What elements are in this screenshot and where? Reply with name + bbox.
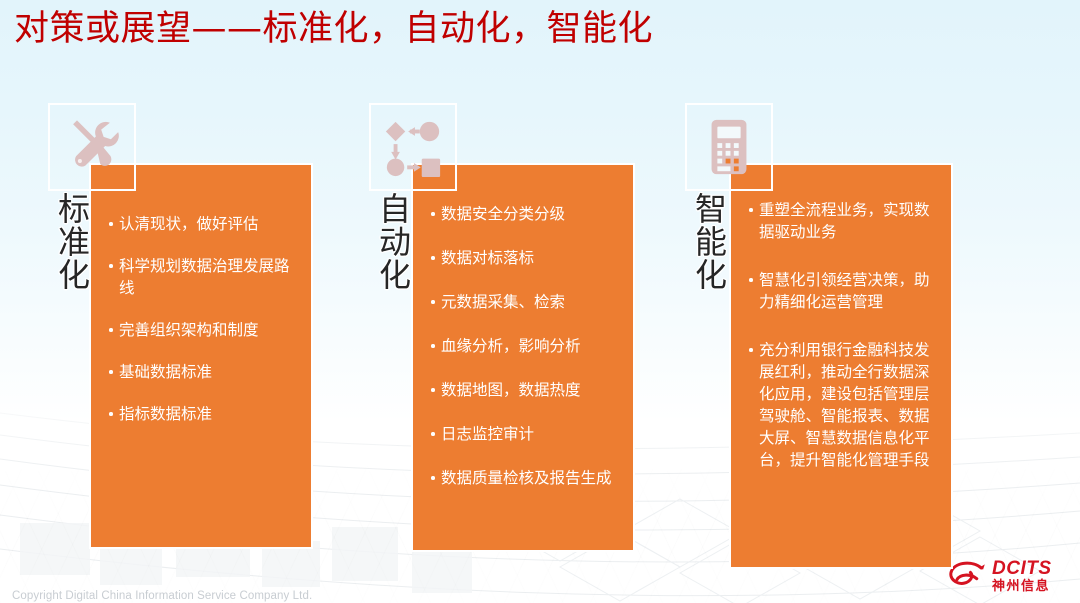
calculator-icon: [698, 116, 760, 178]
icon-box-standardization: [48, 103, 136, 191]
page-title: 对策或展望——标准化，自动化，智能化: [14, 8, 653, 52]
bullet-list-standardization: 认清现状，做好评估 科学规划数据治理发展路线 完善组织架构和制度 基础数据标准 …: [108, 213, 299, 425]
list-item: 重塑全流程业务，实现数据驱动业务: [748, 199, 939, 243]
column-label-automation: 自动化: [373, 192, 412, 291]
list-item: 数据质量检核及报告生成: [430, 467, 623, 489]
flowchart-workflow-icon: [382, 116, 444, 178]
list-item: 智慧化引领经营决策，助力精细化运营管理: [748, 269, 939, 313]
tools-wrench-screwdriver-icon: [61, 116, 123, 178]
slide-canvas: 对策或展望——标准化，自动化，智能化 标准化 认清现状，做好评估 科学规划数据治…: [0, 0, 1080, 603]
list-item: 充分利用银行金融科技发展红利，推动全行数据深化应用，建设包括管理层驾驶舱、智能报…: [748, 339, 939, 471]
bullet-list-intelligence: 重塑全流程业务，实现数据驱动业务 智慧化引领经营决策，助力精细化运营管理 充分利…: [748, 199, 939, 471]
list-item: 科学规划数据治理发展路线: [108, 255, 299, 299]
list-item: 完善组织架构和制度: [108, 319, 299, 341]
list-item: 数据地图，数据热度: [430, 379, 623, 401]
column-label-intelligence: 智能化: [689, 192, 728, 291]
panel-standardization: 认清现状，做好评估 科学规划数据治理发展路线 完善组织架构和制度 基础数据标准 …: [89, 163, 313, 549]
list-item: 血缘分析，影响分析: [430, 335, 623, 357]
icon-box-automation: [369, 103, 457, 191]
panel-automation: 数据安全分类分级 数据对标落标 元数据采集、检索 血缘分析，影响分析 数据地图，…: [411, 163, 635, 552]
list-item: 基础数据标准: [108, 361, 299, 383]
list-item: 数据对标落标: [430, 247, 623, 269]
list-item: 指标数据标准: [108, 403, 299, 425]
logo-text-block: DCITS 神州信息: [992, 559, 1052, 593]
panel-intelligence: 重塑全流程业务，实现数据驱动业务 智慧化引领经营决策，助力精细化运营管理 充分利…: [729, 163, 953, 569]
icon-box-intelligence: [685, 103, 773, 191]
list-item: 认清现状，做好评估: [108, 213, 299, 235]
logo-cn-text: 神州信息: [992, 580, 1052, 593]
list-item: 数据安全分类分级: [430, 203, 623, 225]
column-label-standardization: 标准化: [52, 192, 91, 291]
copyright-text: Copyright Digital China Information Serv…: [12, 590, 312, 602]
list-item: 元数据采集、检索: [430, 291, 623, 313]
bullet-list-automation: 数据安全分类分级 数据对标落标 元数据采集、检索 血缘分析，影响分析 数据地图，…: [430, 203, 623, 489]
dcits-logo: DCITS 神州信息: [946, 555, 1072, 597]
list-item: 日志监控审计: [430, 423, 623, 445]
logo-en-text: DCITS: [992, 559, 1052, 578]
